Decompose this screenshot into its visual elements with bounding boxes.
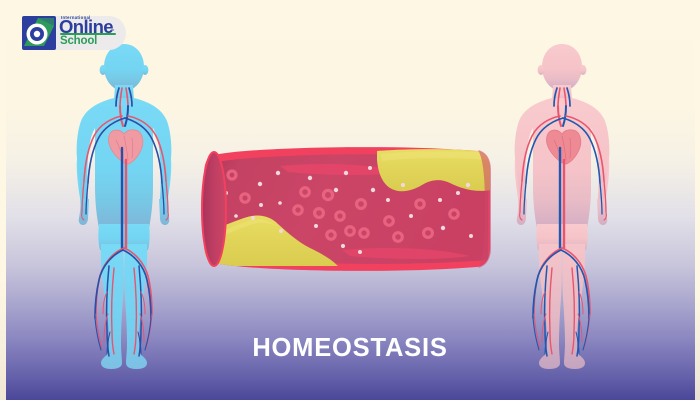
infographic-canvas: International Online ™ School HOMEOSTASI… [0,0,700,400]
logo-mark-icon [22,16,56,50]
body-silhouette-left [77,44,172,369]
logo-word-school: School [60,35,97,47]
logo-trademark-icon: ™ [111,22,114,40]
human-body-right [492,36,632,381]
page-title: HOMEOSTASIS [0,334,700,363]
human-body-left [54,36,194,381]
logo-wordmark: International Online ™ School [59,15,127,51]
vessel-lumen [204,149,492,266]
body-silhouette-right [515,44,610,369]
vessel-end-cap-left [202,152,226,266]
blood-vessel-cross-section [192,138,502,280]
logo-word-online: Online ™ [59,18,113,36]
international-online-school-logo[interactable]: International Online ™ School [22,14,126,54]
